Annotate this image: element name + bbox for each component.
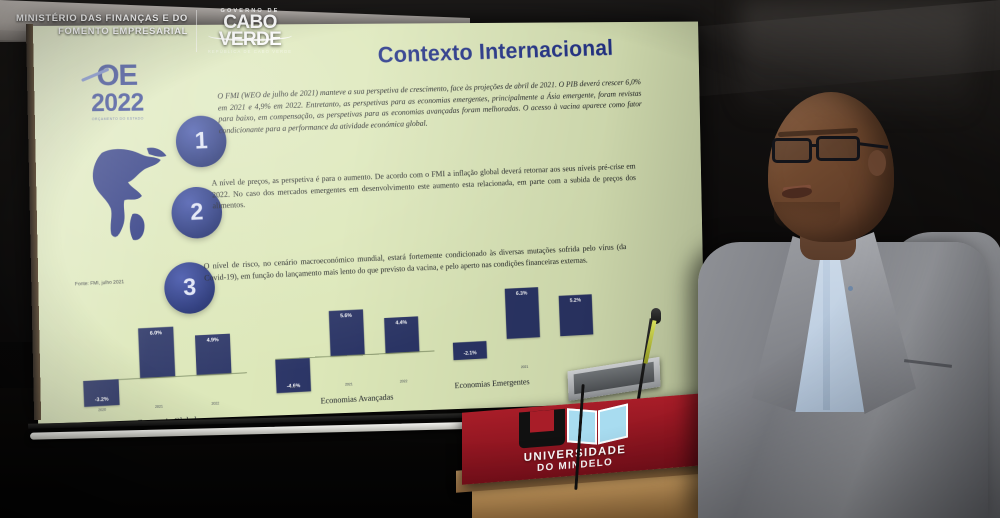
- oe-logo: OE 2022 ORÇAMENTO DO ESTADO: [74, 61, 160, 122]
- banner-divider: [196, 10, 197, 52]
- tick-2020: 2020: [84, 407, 120, 413]
- flag-swoosh-icon: [208, 30, 292, 41]
- tick-2021: 2021: [332, 381, 366, 387]
- chart-group-economia-global: -3.2% 6.0% 4.9% 2020 2021 2022 Economia …: [75, 317, 255, 424]
- gov-republic-label: REPÚBLICA DE CABO VERDE: [204, 49, 296, 54]
- collar-button: [848, 286, 853, 291]
- bar-2021: 6.3%: [505, 287, 540, 339]
- letter-u-icon: [519, 409, 565, 449]
- government-logo: GOVERNO DE CABO VERDE REPÚBLICA DE CABO …: [204, 8, 296, 54]
- bullet-text-2: A nível de preços, as perspetiva é para …: [211, 161, 636, 212]
- bar-2022: 5.2%: [559, 294, 594, 336]
- overlay-banner: MINISTÉRIO DAS FINANÇAS E DO FOMENTO EMP…: [0, 0, 262, 62]
- chart-group-economias-avancadas: -4.6% 5.6% 4.4% 2020 2021 2022 Economias…: [267, 296, 442, 424]
- book-right-icon: [598, 403, 628, 444]
- ear: [868, 150, 886, 176]
- world-map-icon: [72, 136, 180, 249]
- speaker-person: [690, 64, 1000, 518]
- bullet-text-3: O nível de risco, no cenário macroeconóm…: [203, 241, 626, 283]
- tick-2021: 2021: [508, 364, 541, 370]
- slide-surface: OE 2022 ORÇAMENTO DO ESTADO Contexto Int…: [30, 22, 706, 424]
- eyeglasses-lens-left-icon: [772, 138, 812, 163]
- bar-2020: -3.2%: [83, 379, 119, 407]
- tick-2022: 2022: [198, 401, 233, 407]
- bar-value-label: 5.2%: [559, 297, 592, 304]
- oe-logo-year: 2022: [75, 91, 160, 116]
- bar-2021: 5.6%: [329, 309, 365, 356]
- shirt-placket: [823, 242, 830, 410]
- bar-value-label: -2.1%: [453, 350, 487, 358]
- bar-value-label: 4.9%: [195, 337, 230, 345]
- slide-content: OE 2022 ORÇAMENTO DO ESTADO Contexto Int…: [30, 22, 706, 424]
- oe-logo-subtitle: ORÇAMENTO DO ESTADO: [75, 116, 160, 121]
- bar-2022: 4.9%: [195, 334, 231, 375]
- bar-value-label: 4.4%: [384, 319, 418, 327]
- eyeglasses-bridge-icon: [810, 144, 819, 147]
- oe-logo-mark: OE: [96, 61, 137, 91]
- projection-screen: OE 2022 ORÇAMENTO DO ESTADO Contexto Int…: [30, 22, 706, 424]
- ministry-label: MINISTÉRIO DAS FINANÇAS E DO FOMENTO EMP…: [16, 12, 188, 37]
- bar-2020: -2.1%: [453, 341, 487, 360]
- bar-value-label: 6.3%: [505, 290, 539, 297]
- gov-prefix: GOVERNO DE: [204, 8, 296, 14]
- tick-2021: 2021: [141, 404, 176, 410]
- bar-value-label: 5.6%: [329, 312, 363, 320]
- tick-2022: 2022: [387, 378, 421, 384]
- chin-shadow: [774, 202, 840, 232]
- bar-value-label: -3.2%: [84, 396, 120, 404]
- bar-2022: 4.4%: [384, 316, 419, 353]
- chart-source-label: Fonte: FMI, julho 2021: [75, 279, 124, 287]
- bar-2021: 6.0%: [138, 327, 175, 378]
- eyeglasses-lens-right-icon: [816, 136, 860, 161]
- slide-title: Contexto Internacional: [322, 33, 666, 70]
- bullet-text-1: O FMI (WEO de julho de 2021) manteve a s…: [217, 76, 642, 136]
- university-mark-icon: [519, 403, 631, 450]
- photo-scene: MINISTÉRIO DAS FINANÇAS E DO FOMENTO EMP…: [0, 0, 1000, 518]
- university-logo: UNIVERSIDADE DO MINDELO: [500, 402, 650, 477]
- bar-value-label: 6.0%: [138, 330, 173, 338]
